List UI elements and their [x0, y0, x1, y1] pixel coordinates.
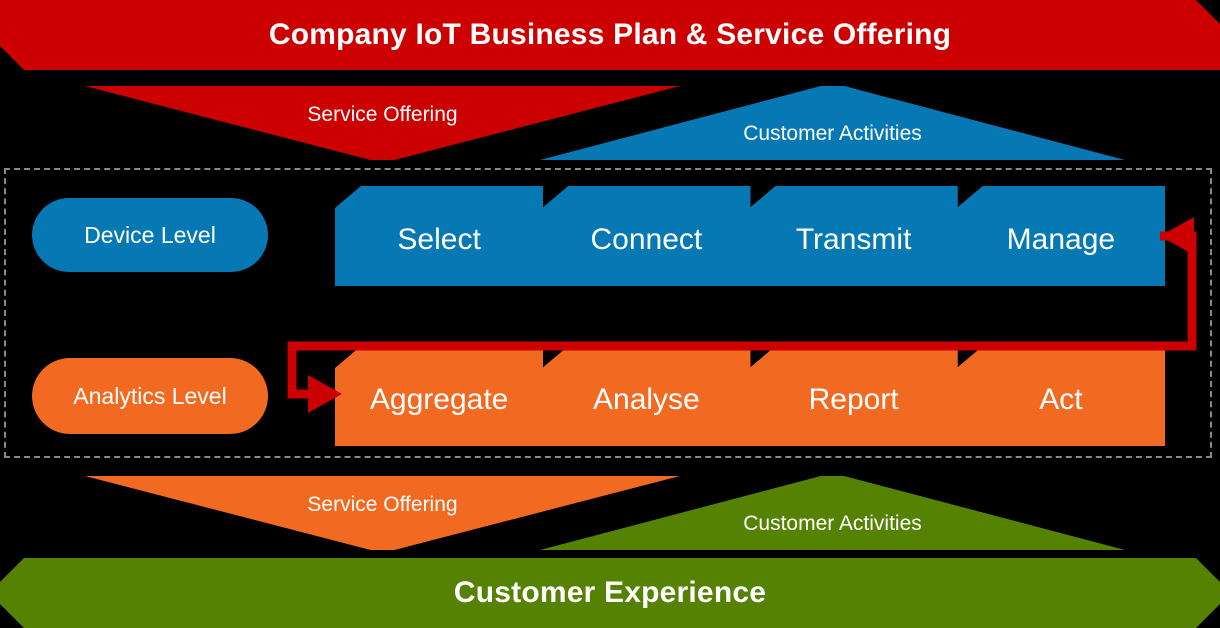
flow-customer-activities-top-label: Customer Activities	[743, 122, 922, 146]
process-step-report[interactable]: Report	[750, 346, 958, 446]
title-banner: Company IoT Business Plan & Service Offe…	[0, 0, 1220, 70]
process-step-report-label: Report	[809, 383, 899, 417]
process-step-act[interactable]: Act	[957, 346, 1165, 446]
level-label-device: Device Level	[32, 198, 268, 272]
process-step-connect-label: Connect	[591, 223, 703, 257]
process-step-analyse[interactable]: Analyse	[542, 346, 750, 446]
process-band-device: Select Connect Transmit Manage	[335, 186, 1165, 286]
flow-service-offering-top-label: Service Offering	[307, 103, 457, 127]
process-step-act-label: Act	[1039, 383, 1082, 417]
process-step-connect[interactable]: Connect	[542, 186, 750, 286]
process-band-analytics: Aggregate Analyse Report Act	[335, 346, 1165, 446]
process-step-transmit-label: Transmit	[796, 223, 912, 257]
flow-customer-activities-bottom-label: Customer Activities	[743, 512, 922, 536]
process-step-select[interactable]: Select	[335, 186, 543, 286]
flow-service-offering-bottom-label: Service Offering	[307, 493, 457, 517]
process-step-aggregate[interactable]: Aggregate	[335, 346, 543, 446]
level-label-analytics-text: Analytics Level	[73, 383, 226, 410]
page-title: Company IoT Business Plan & Service Offe…	[269, 18, 951, 52]
process-step-manage[interactable]: Manage	[957, 186, 1165, 286]
footer-banner: Customer Experience	[0, 558, 1220, 628]
process-step-transmit[interactable]: Transmit	[750, 186, 958, 286]
process-step-select-label: Select	[397, 223, 480, 257]
level-label-device-text: Device Level	[84, 222, 216, 249]
process-step-manage-label: Manage	[1007, 223, 1115, 257]
footer-title: Customer Experience	[454, 576, 766, 610]
level-label-analytics: Analytics Level	[32, 358, 268, 434]
process-step-aggregate-label: Aggregate	[370, 383, 508, 417]
process-step-analyse-label: Analyse	[593, 383, 700, 417]
diagram-canvas: Company IoT Business Plan & Service Offe…	[0, 0, 1220, 628]
